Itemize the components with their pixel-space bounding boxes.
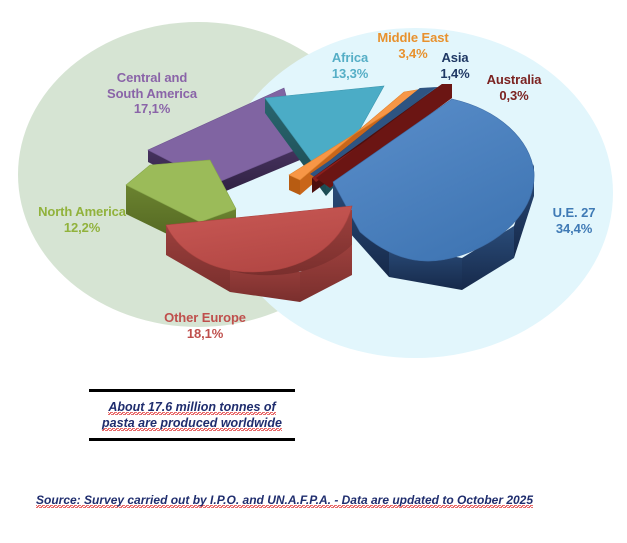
slice-label-ue-27: U.E. 27 34,4% xyxy=(528,205,620,236)
slice-label-ue-27-value: 34,4% xyxy=(528,221,620,237)
slice-label-other-europe: Other Europe 18,1% xyxy=(135,310,275,341)
caption-rule-bottom xyxy=(89,438,295,441)
slice-label-north-america-name: North America xyxy=(20,204,144,220)
slice-label-africa-name: Africa xyxy=(308,50,392,66)
slice-label-middle-east-name: Middle East xyxy=(358,30,468,46)
source-line: Source: Survey carried out by I.P.O. and… xyxy=(36,493,596,507)
caption-line-1: About 17.6 million tonnes of xyxy=(108,400,275,415)
slice-label-central-and-south-america-value: 17,1% xyxy=(72,101,232,117)
slice-label-other-europe-value: 18,1% xyxy=(135,326,275,342)
slice-label-australia: Australia 0,3% xyxy=(470,72,558,103)
slice-label-australia-value: 0,3% xyxy=(470,88,558,104)
slice-label-central-and-south-america-name-line1: Central and xyxy=(72,70,232,86)
slice-label-central-and-south-america: Central and South America 17,1% xyxy=(72,70,232,117)
slice-label-north-america-value: 12,2% xyxy=(20,220,144,236)
slice-label-north-america: North America 12,2% xyxy=(20,204,144,235)
slice-label-ue-27-name: U.E. 27 xyxy=(528,205,620,221)
slice-label-australia-name: Australia xyxy=(470,72,558,88)
caption-box: About 17.6 million tonnes of pasta are p… xyxy=(89,389,295,441)
slice-label-africa: Africa 13,3% xyxy=(308,50,392,81)
caption-text: About 17.6 million tonnes of pasta are p… xyxy=(89,392,295,438)
chart-canvas: Middle East 3,4% Africa 13,3% Asia 1,4% … xyxy=(0,0,627,543)
caption-line-2: pasta are produced worldwide xyxy=(102,416,282,431)
slice-label-central-and-south-america-name-line2: South America xyxy=(72,86,232,102)
source-text: Source: Survey carried out by I.P.O. and… xyxy=(36,493,533,508)
slice-label-other-europe-name: Other Europe xyxy=(135,310,275,326)
slice-label-asia-name: Asia xyxy=(424,50,486,66)
slice-label-africa-value: 13,3% xyxy=(308,66,392,82)
